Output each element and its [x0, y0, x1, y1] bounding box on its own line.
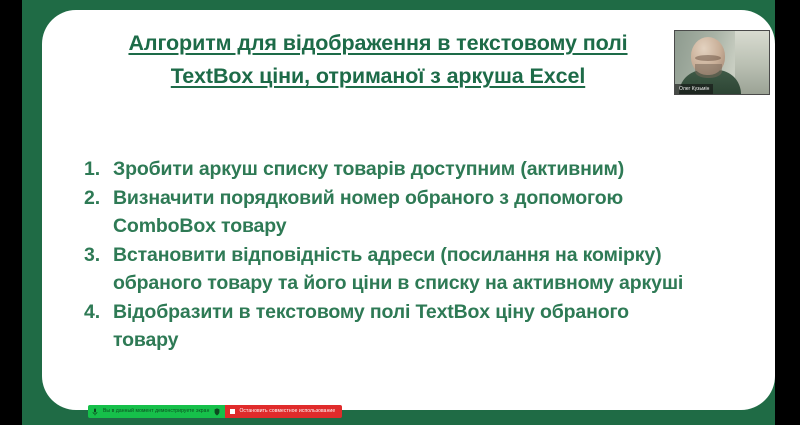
slide-title-line-2: TextBox ціни, отриманої з аркуша Excel: [42, 61, 714, 92]
share-status-text: Вы в данный момент демонстрируете экран: [103, 405, 209, 418]
list-item-text: Встановити відповідність адреси (посилан…: [113, 241, 684, 298]
list-item: 4. Відобразити в текстовому полі TextBox…: [84, 298, 684, 355]
list-item-number: 1.: [84, 155, 113, 184]
webcam-pip-overlay[interactable]: Олег Кузьмін: [674, 30, 770, 95]
list-item-text: Відобразити в текстовому полі TextBox ці…: [113, 298, 684, 355]
stop-square-icon: [230, 409, 235, 414]
list-item-number: 2.: [84, 184, 113, 213]
list-item: 1. Зробити аркуш списку товарів доступни…: [84, 155, 684, 184]
microphone-icon[interactable]: [92, 408, 98, 415]
slide-numbered-list: 1. Зробити аркуш списку товарів доступни…: [84, 155, 684, 355]
stop-share-label: Остановить совместное использование: [239, 405, 335, 418]
list-item: 2. Визначити порядковий номер обраного з…: [84, 184, 684, 241]
slide-title: Алгоритм для відображення в текстовому п…: [42, 28, 714, 92]
stop-share-button[interactable]: Остановить совместное использование: [225, 405, 342, 418]
webcam-background-wall: [735, 31, 769, 94]
list-item: 3. Встановити відповідність адреси (поси…: [84, 241, 684, 298]
slide-title-line-1: Алгоритм для відображення в текстовому п…: [42, 28, 714, 59]
list-item-number: 4.: [84, 298, 113, 327]
webcam-participant-name: Олег Кузьмін: [675, 84, 713, 94]
webcam-person-brow: [695, 55, 721, 61]
share-status-pill: Вы в данный момент демонстрируете экран: [88, 405, 225, 418]
list-item-text: Визначити порядковий номер обраного з до…: [113, 184, 684, 241]
screen-share-toolbar[interactable]: Вы в данный момент демонстрируете экран …: [88, 405, 342, 418]
shield-icon[interactable]: [214, 408, 220, 415]
list-item-text: Зробити аркуш списку товарів доступним (…: [113, 155, 684, 184]
webcam-person-beard: [695, 64, 722, 78]
screen-share-video-frame: Алгоритм для відображення в текстовому п…: [0, 0, 800, 425]
list-item-number: 3.: [84, 241, 113, 270]
